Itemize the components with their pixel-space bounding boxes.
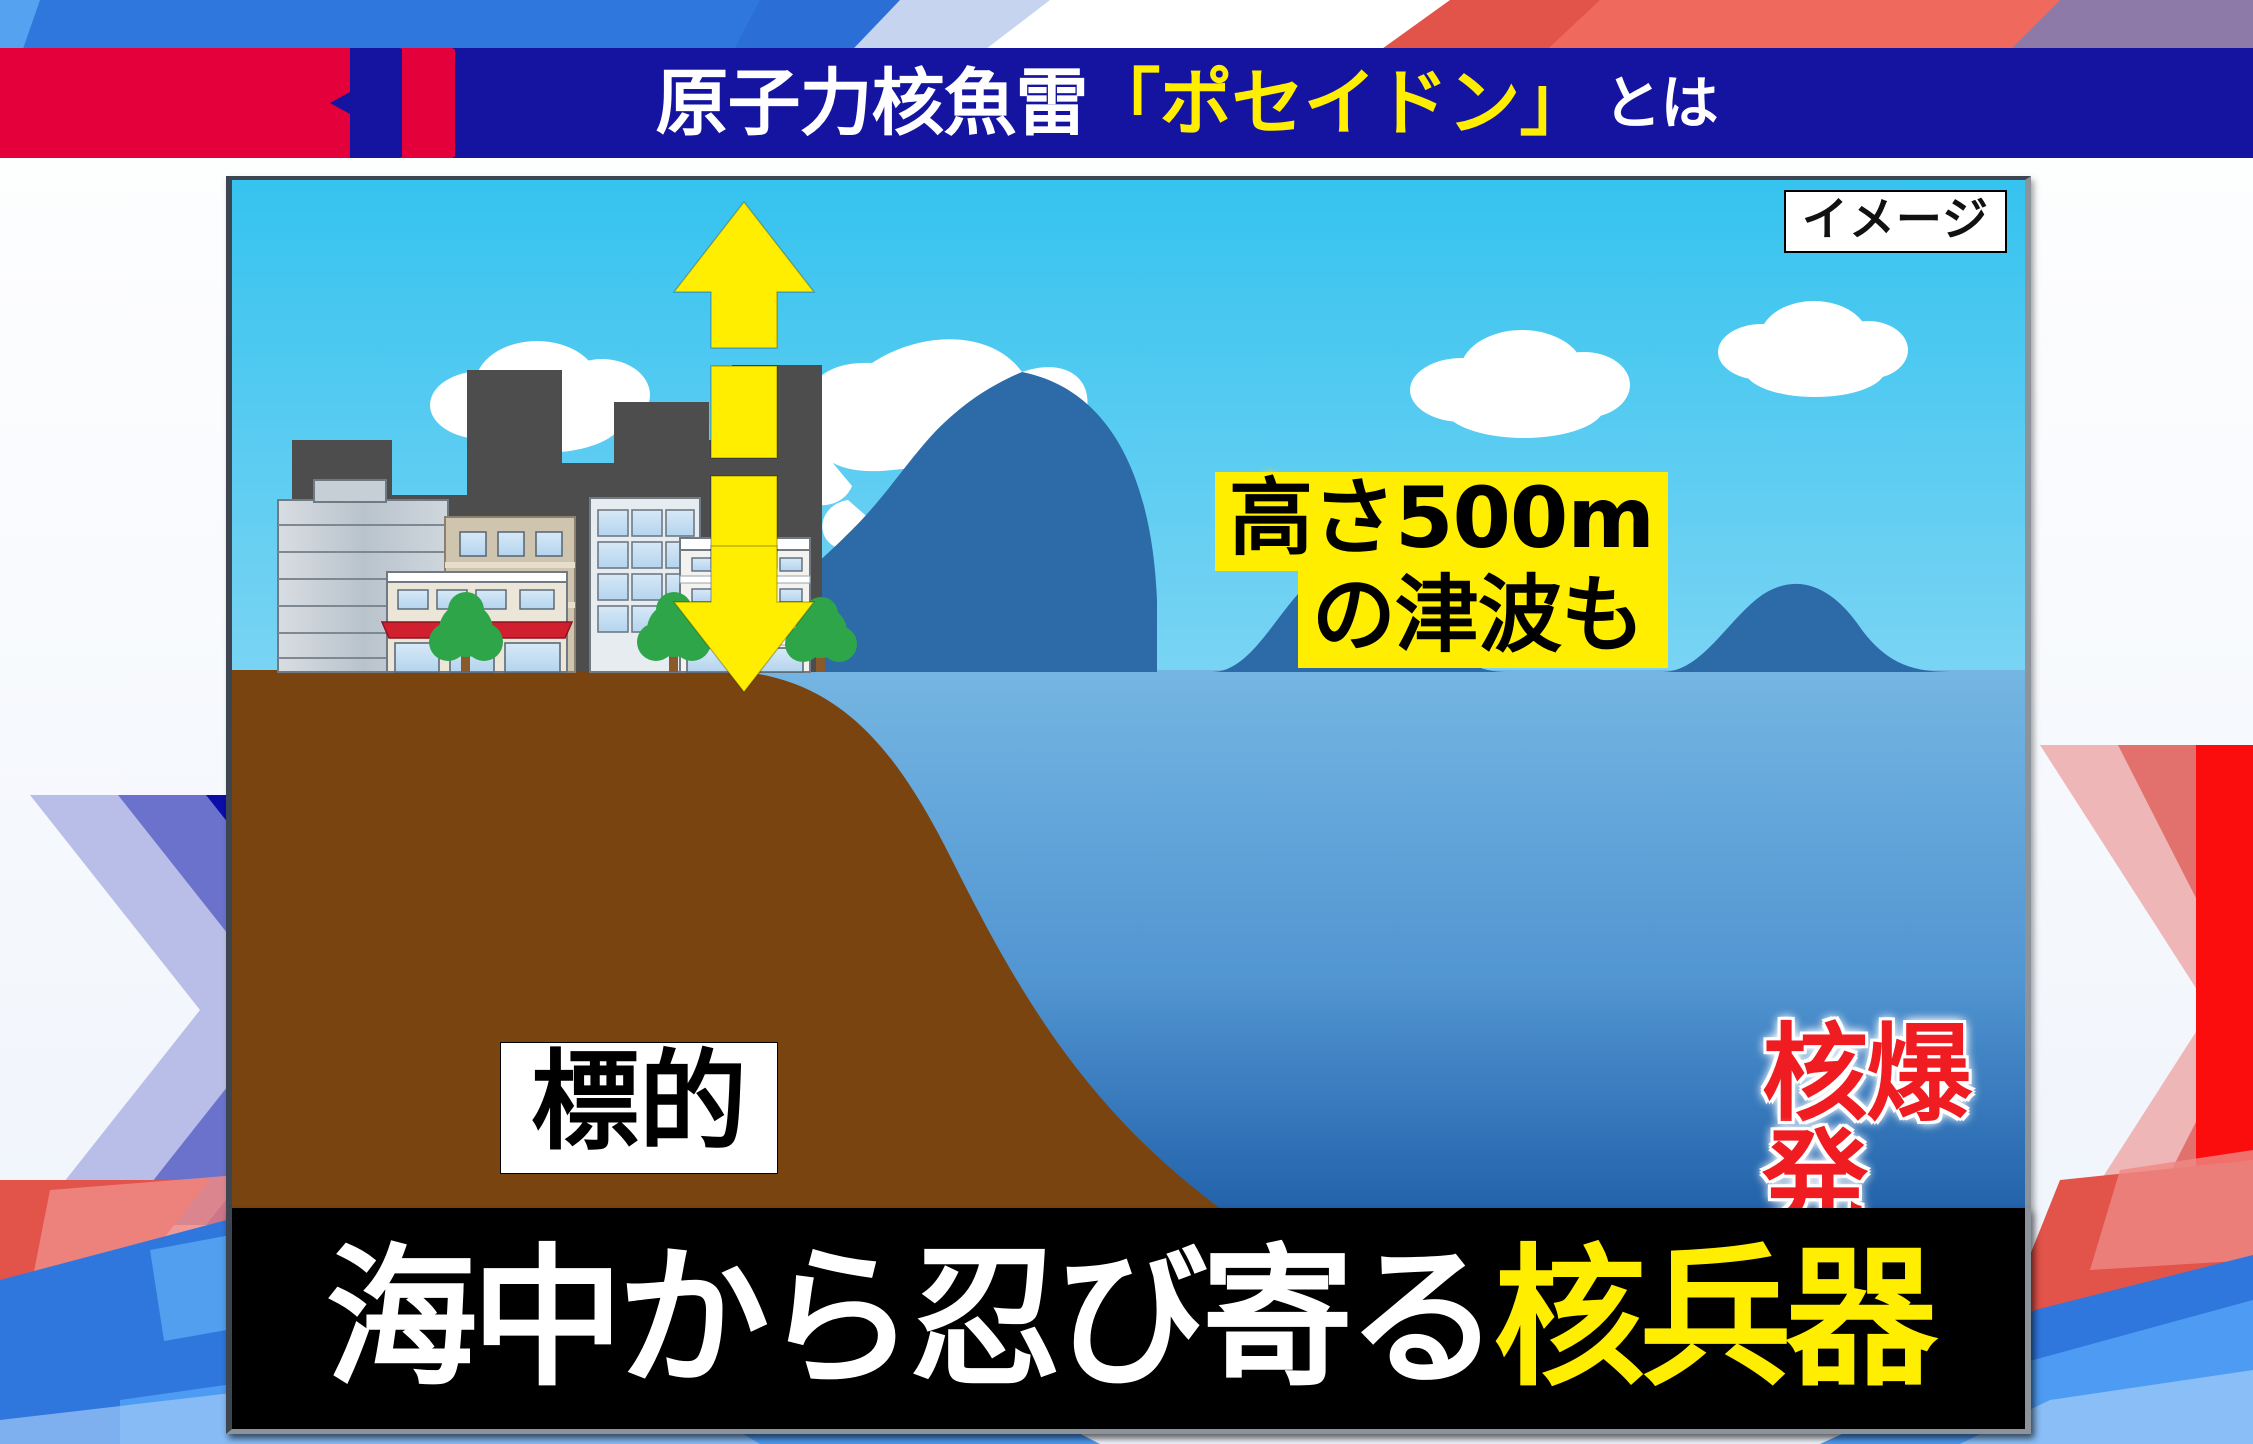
caption-text-yellow: 核兵器 (1494, 1243, 1932, 1395)
image-badge: イメージ (1784, 190, 2007, 253)
header-banner: 原子力核魚雷「ポセイドン」とは (0, 48, 2253, 158)
caption-bar: 海中から忍び寄る核兵器 (226, 1208, 2031, 1434)
callout-line-1: 高さ500m (1229, 469, 1654, 567)
callout-line-2: の津波も (1312, 566, 1644, 664)
explosion-label: 核爆発 (1762, 1022, 2025, 1234)
caption-text-white: 海中から忍び寄る (326, 1243, 1494, 1395)
title-suffix: とは (1591, 74, 1717, 132)
target-label: 標的 (500, 1042, 778, 1174)
title-highlight: 「ポセイドン」 (1087, 67, 1591, 140)
image-badge-label: イメージ (1802, 192, 1989, 246)
callout-row-2: の津波も (1215, 569, 1668, 668)
tsunami-height-callout: 高さ500m の津波も (1215, 472, 1668, 668)
page-title: 原子力核魚雷「ポセイドン」とは (0, 48, 2253, 158)
target-label-text: 標的 (531, 1040, 747, 1165)
title-main: 原子力核魚雷 (655, 67, 1087, 140)
infographic-root: 原子力核魚雷「ポセイドン」とは (0, 0, 2253, 1444)
callout-row-1: 高さ500m (1215, 472, 1668, 571)
